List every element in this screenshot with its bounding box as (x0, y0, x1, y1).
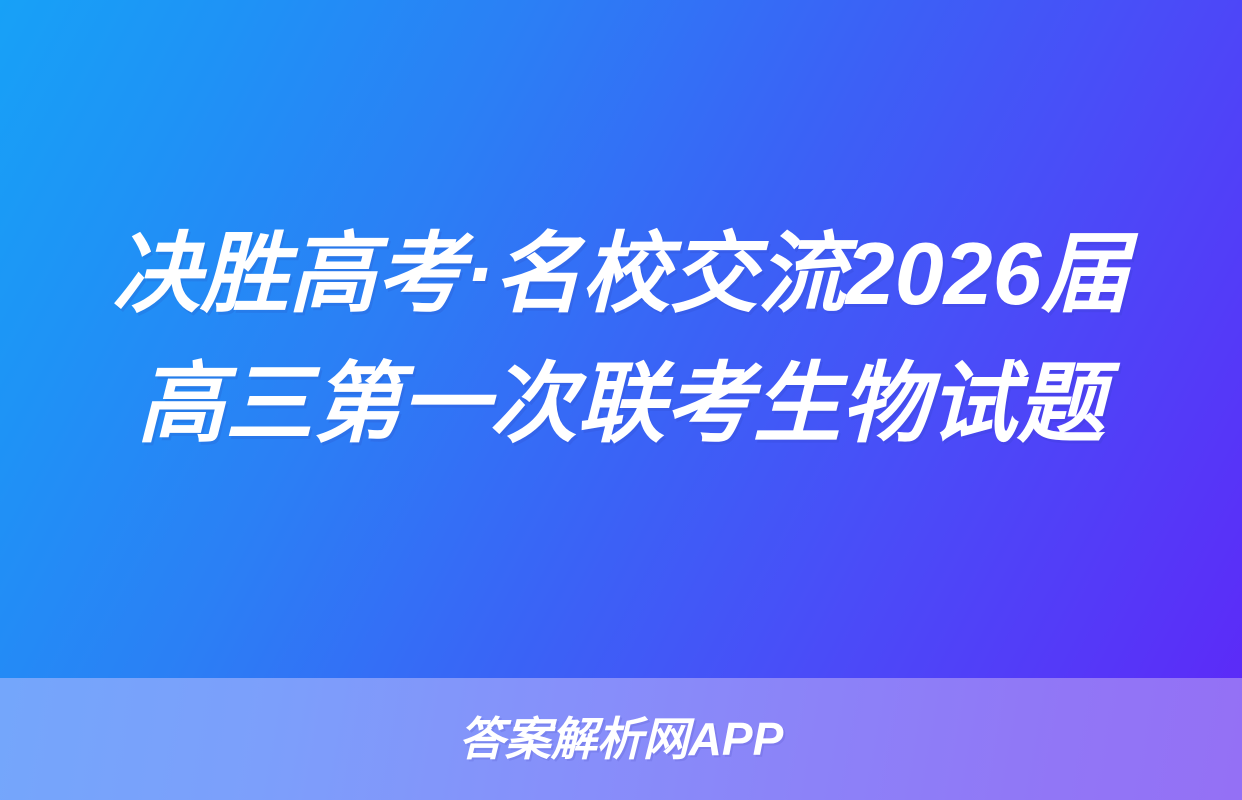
page-title: 决胜高考·名校交流2026届高三第一次联考生物试题 (74, 209, 1168, 469)
poster-canvas: 决胜高考·名校交流2026届高三第一次联考生物试题 答案解析网APP (0, 0, 1242, 800)
watermark-label: 答案解析网APP (459, 716, 784, 762)
title-container: 决胜高考·名校交流2026届高三第一次联考生物试题 (0, 0, 1242, 678)
watermark-band: 答案解析网APP (0, 678, 1242, 800)
